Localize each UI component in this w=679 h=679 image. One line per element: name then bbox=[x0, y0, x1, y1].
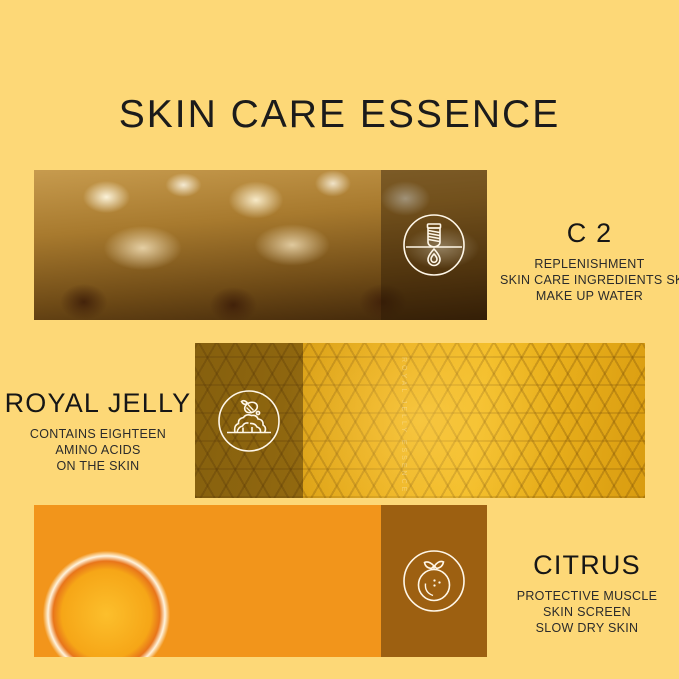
section-heading: CITRUS bbox=[495, 550, 679, 581]
section-line: ON THE SKIN bbox=[0, 458, 196, 474]
section-image-c2 bbox=[34, 170, 487, 320]
section-text-royal-jelly: ROYAL JELLY CONTAINS EIGHTEEN AMINO ACID… bbox=[0, 388, 196, 474]
poster-canvas: SKIN CARE ESSENCE C 2 REPLENISHMENT SKIN… bbox=[0, 0, 679, 679]
section-line: SKIN SCREEN bbox=[495, 604, 679, 620]
orange-fruit-icon bbox=[398, 545, 470, 617]
section-line: CONTAINS EIGHTEEN bbox=[0, 426, 196, 442]
section-text-citrus: CITRUS PROTECTIVE MUSCLE SKIN SCREEN SLO… bbox=[495, 550, 679, 636]
section-image-royal-jelly: ROYAL JELLY ESSENCE bbox=[195, 343, 645, 498]
dropper-icon bbox=[398, 209, 470, 281]
bee-hive-icon bbox=[213, 385, 285, 457]
page-title: SKIN CARE ESSENCE bbox=[0, 93, 679, 137]
section-line: AMINO ACIDS bbox=[0, 442, 196, 458]
section-image-citrus bbox=[34, 505, 487, 657]
vertical-caption: ROYAL JELLY ESSENCE bbox=[400, 357, 407, 494]
section-heading: ROYAL JELLY bbox=[0, 388, 196, 419]
section-line: SLOW DRY SKIN bbox=[495, 620, 679, 636]
section-line: PROTECTIVE MUSCLE bbox=[495, 588, 679, 604]
section-line: MAKE UP WATER bbox=[500, 288, 679, 304]
section-heading: C 2 bbox=[500, 218, 679, 249]
section-text-c2: C 2 REPLENISHMENT SKIN CARE INGREDIENTS … bbox=[500, 218, 679, 304]
section-line: SKIN CARE INGREDIENTS SKIN bbox=[500, 272, 679, 288]
section-line: REPLENISHMENT bbox=[500, 256, 679, 272]
